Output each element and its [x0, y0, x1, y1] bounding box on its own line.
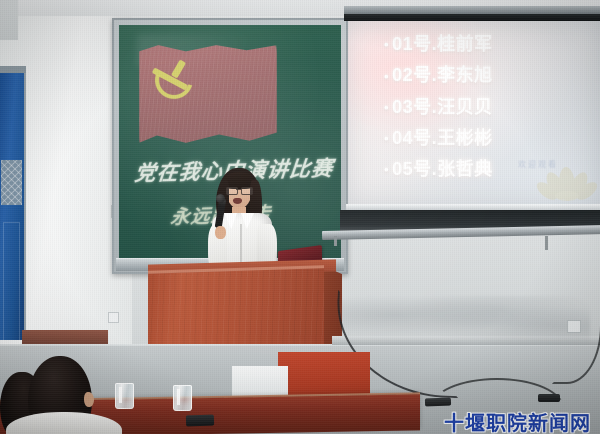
mobile-phone — [186, 415, 214, 427]
list-item: 01号.桂前军 — [384, 29, 493, 60]
blue-door[interactable] — [0, 72, 26, 340]
door-panel — [3, 222, 20, 344]
rail-bracket — [334, 236, 337, 246]
wall-left-edge — [0, 0, 18, 40]
glasses-icon — [226, 187, 252, 193]
lotus-flower-icon — [536, 144, 598, 202]
list-item: 03号.汪贝贝 — [384, 92, 493, 123]
rail-bracket — [545, 236, 548, 250]
flag-chalk-texture — [139, 43, 277, 147]
classroom-photo: 党在我心中演讲比赛 永远跟党走 01号.桂前军 02号.李东旭 03号.汪贝贝 … — [0, 0, 600, 434]
list-item: 04号.王彬彬 — [384, 123, 493, 154]
door-frame — [0, 66, 26, 73]
power-strip[interactable] — [538, 394, 560, 402]
hand — [215, 226, 226, 239]
power-strip[interactable] — [425, 398, 451, 407]
mouth — [233, 198, 242, 204]
water-glass — [173, 385, 192, 411]
list-item: 05号.张哲典 — [384, 154, 493, 185]
ear — [84, 392, 94, 407]
door-window — [1, 160, 22, 205]
contestant-list: 01号.桂前军 02号.李东旭 03号.汪贝贝 04号.王彬彬 05号.张哲典 — [384, 29, 493, 185]
wall-outlet[interactable] — [108, 312, 119, 323]
glasses-lens-right — [241, 187, 253, 195]
list-item: 02号.李东旭 — [384, 60, 493, 91]
projection-screen: 01号.桂前军 02号.李东旭 03号.汪贝贝 04号.王彬彬 05号.张哲典 … — [348, 21, 600, 204]
news-site-watermark: 十堰职院新闻网 — [444, 407, 591, 434]
screen-housing — [344, 14, 600, 21]
microphone-head — [216, 194, 225, 203]
water-glass — [115, 383, 134, 409]
party-flag-chalk-drawing — [139, 43, 277, 147]
